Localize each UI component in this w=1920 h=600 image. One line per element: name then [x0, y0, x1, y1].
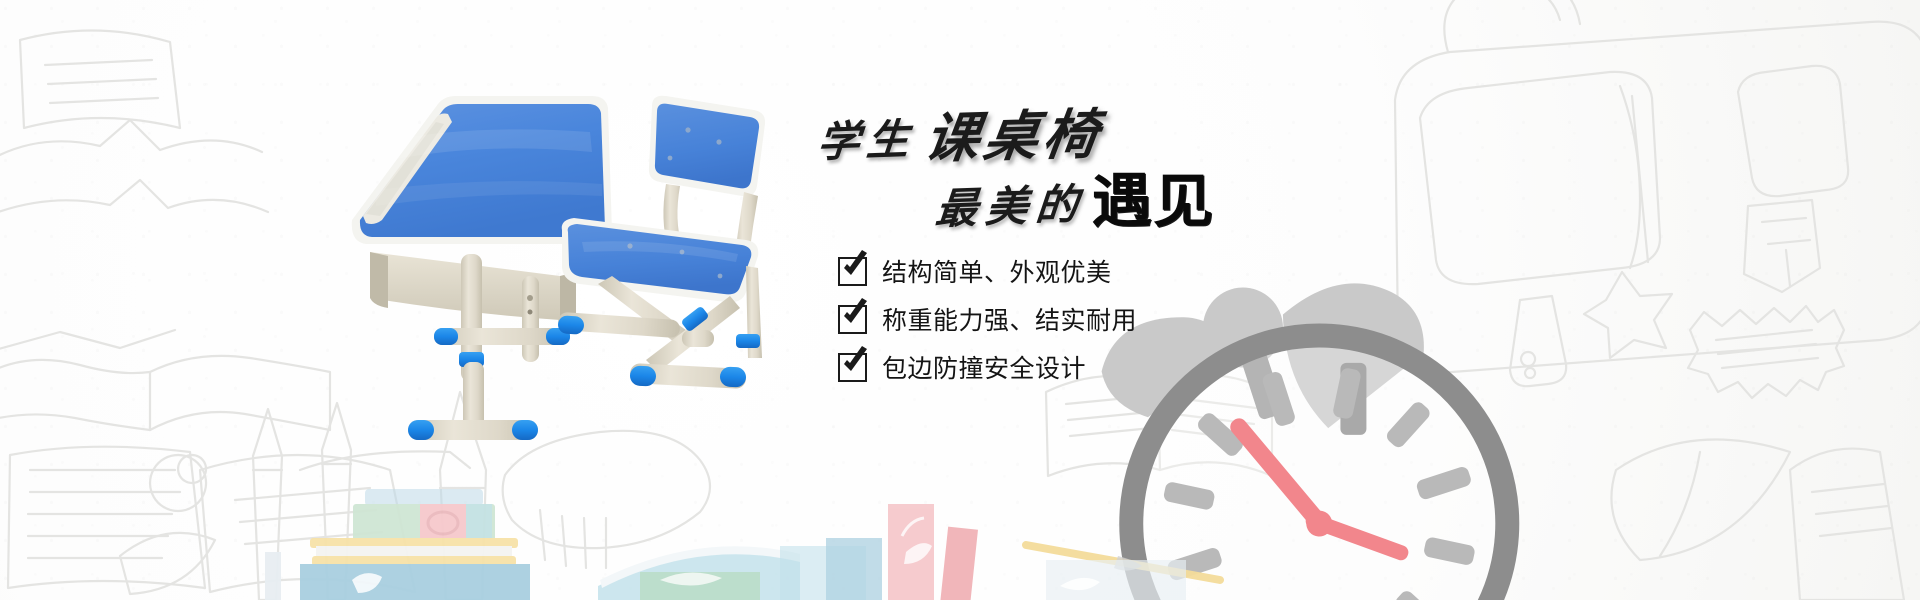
feature-label: 结构简单、外观优美 — [882, 253, 1112, 289]
headline-block: 学生课桌椅 最美的遇见 — [818, 92, 1288, 232]
feature-item: 结构简单、外观优美 — [838, 250, 1258, 292]
feature-label: 包边防撞安全设计 — [882, 349, 1086, 385]
checkbox-checked-icon — [838, 257, 867, 286]
headline-line-2: 最美的遇见 — [936, 154, 1212, 238]
checkbox-checked-icon — [838, 305, 867, 334]
feature-item: 包边防撞安全设计 — [838, 346, 1258, 388]
headline-line1-prefix: 学生 — [815, 105, 919, 169]
checkbox-checked-icon — [838, 353, 867, 382]
student-desk-and-chair-photo — [330, 80, 850, 460]
feature-label: 称重能力强、结实耐用 — [882, 301, 1137, 337]
feature-list: 结构简单、外观优美 称重能力强、结实耐用 包边防撞安全设计 — [838, 250, 1258, 394]
feature-item: 称重能力强、结实耐用 — [838, 298, 1258, 340]
promo-banner: 学生课桌椅 最美的遇见 结构简单、外观优美 称重能力强、结实耐用 包边防撞安全设… — [0, 0, 1920, 600]
headline-line2-emphasis: 遇见 — [1092, 154, 1215, 238]
headline-line2-prefix: 最美的 — [933, 170, 1089, 236]
